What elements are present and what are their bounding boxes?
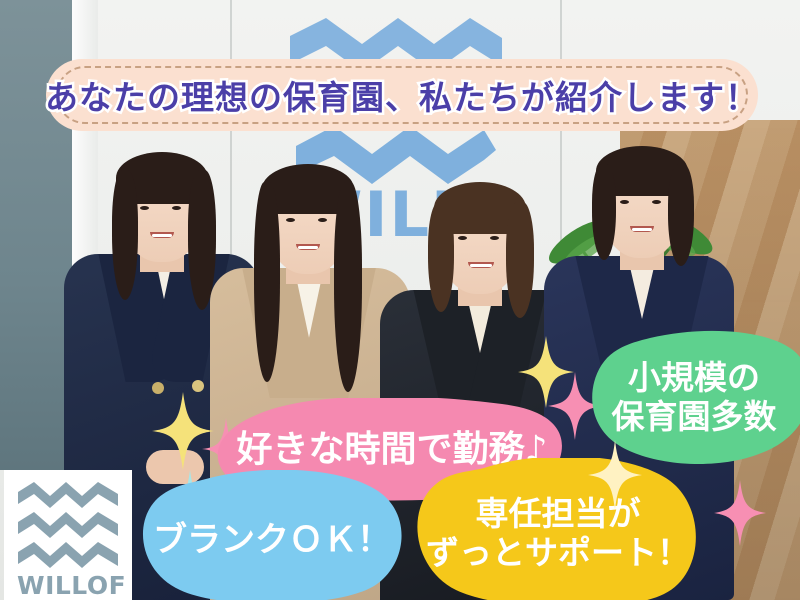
sparkle-pink-3 bbox=[714, 480, 766, 546]
sparkle-cream-1 bbox=[588, 440, 642, 510]
willof-wordmark: WILLOF bbox=[17, 571, 126, 600]
recruitment-ad: WILLOF bbox=[0, 0, 800, 600]
graphics-overlay: 好きな時間で勤務♪ 小規模の 保育園多数 ブランクＯＫ！ bbox=[0, 0, 800, 600]
bubble-green-line-2: 保育園多数 bbox=[612, 398, 777, 437]
willof-logo-badge: WILLOF bbox=[4, 470, 132, 600]
bubble-yellow-line-2: ずっとサポート！ bbox=[426, 534, 690, 573]
bubble-blue-text: ブランクＯＫ！ bbox=[138, 478, 406, 600]
bubble-yellow-text: 専任担当が ずっとサポート！ bbox=[414, 466, 702, 600]
bubble-green-line-1: 小規模の bbox=[628, 359, 760, 398]
bubble-blue-line-1: ブランクＯＫ！ bbox=[153, 520, 391, 560]
headline-text: あなたの理想の保育園、私たちが紹介します！ bbox=[46, 59, 758, 131]
